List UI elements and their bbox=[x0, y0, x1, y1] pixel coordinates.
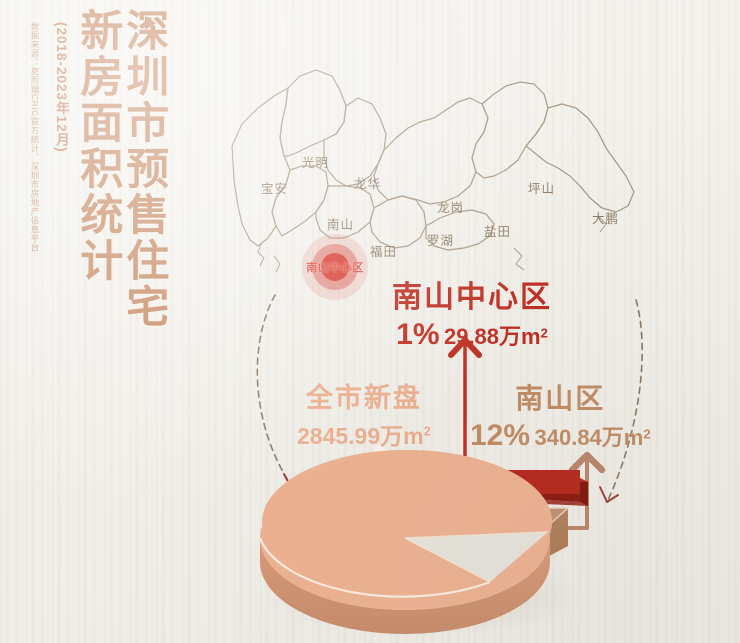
pie-slice-citywide bbox=[260, 450, 552, 634]
title-block: 深圳市预售住宅 新房面积统计 (2018-2023年12月) 数据来源：克而瑞C… bbox=[22, 8, 165, 338]
title-triangle-icon bbox=[145, 16, 156, 30]
title-date-range: (2018-2023年12月) bbox=[51, 22, 71, 153]
callout-center-unit: m bbox=[521, 324, 541, 349]
pie-chart-3d bbox=[250, 430, 650, 640]
callout-nanshan-center: 南山中心区 1% 29.88万m2 bbox=[392, 272, 552, 352]
marker-label: 南山中心区 bbox=[306, 259, 364, 275]
title-source-note: 数据来源：克而瑞CRIC官方统计、深圳市房地产信息平台 bbox=[29, 22, 41, 252]
callout-city-title: 全市新盘 bbox=[297, 376, 431, 415]
callout-center-title: 南山中心区 bbox=[392, 272, 552, 316]
infographic-poster: 深圳市预售住宅 新房面积统计 (2018-2023年12月) 数据来源：克而瑞C… bbox=[0, 0, 740, 643]
title-line-1: 深圳市预售住宅 bbox=[121, 8, 165, 330]
callout-center-percent: 1% bbox=[396, 318, 439, 351]
callout-district-title: 南山区 bbox=[470, 377, 651, 417]
map-marker-nanshan-center[interactable]: 南山中心区 bbox=[300, 232, 370, 302]
callout-center-unit-sup: 2 bbox=[541, 326, 548, 341]
callout-center-values: 1% 29.88万m2 bbox=[392, 318, 552, 352]
shenzhen-district-map bbox=[228, 60, 648, 290]
callout-center-value: 29.88万 bbox=[444, 324, 521, 349]
title-line-2: 新房面积统计 bbox=[75, 8, 119, 284]
